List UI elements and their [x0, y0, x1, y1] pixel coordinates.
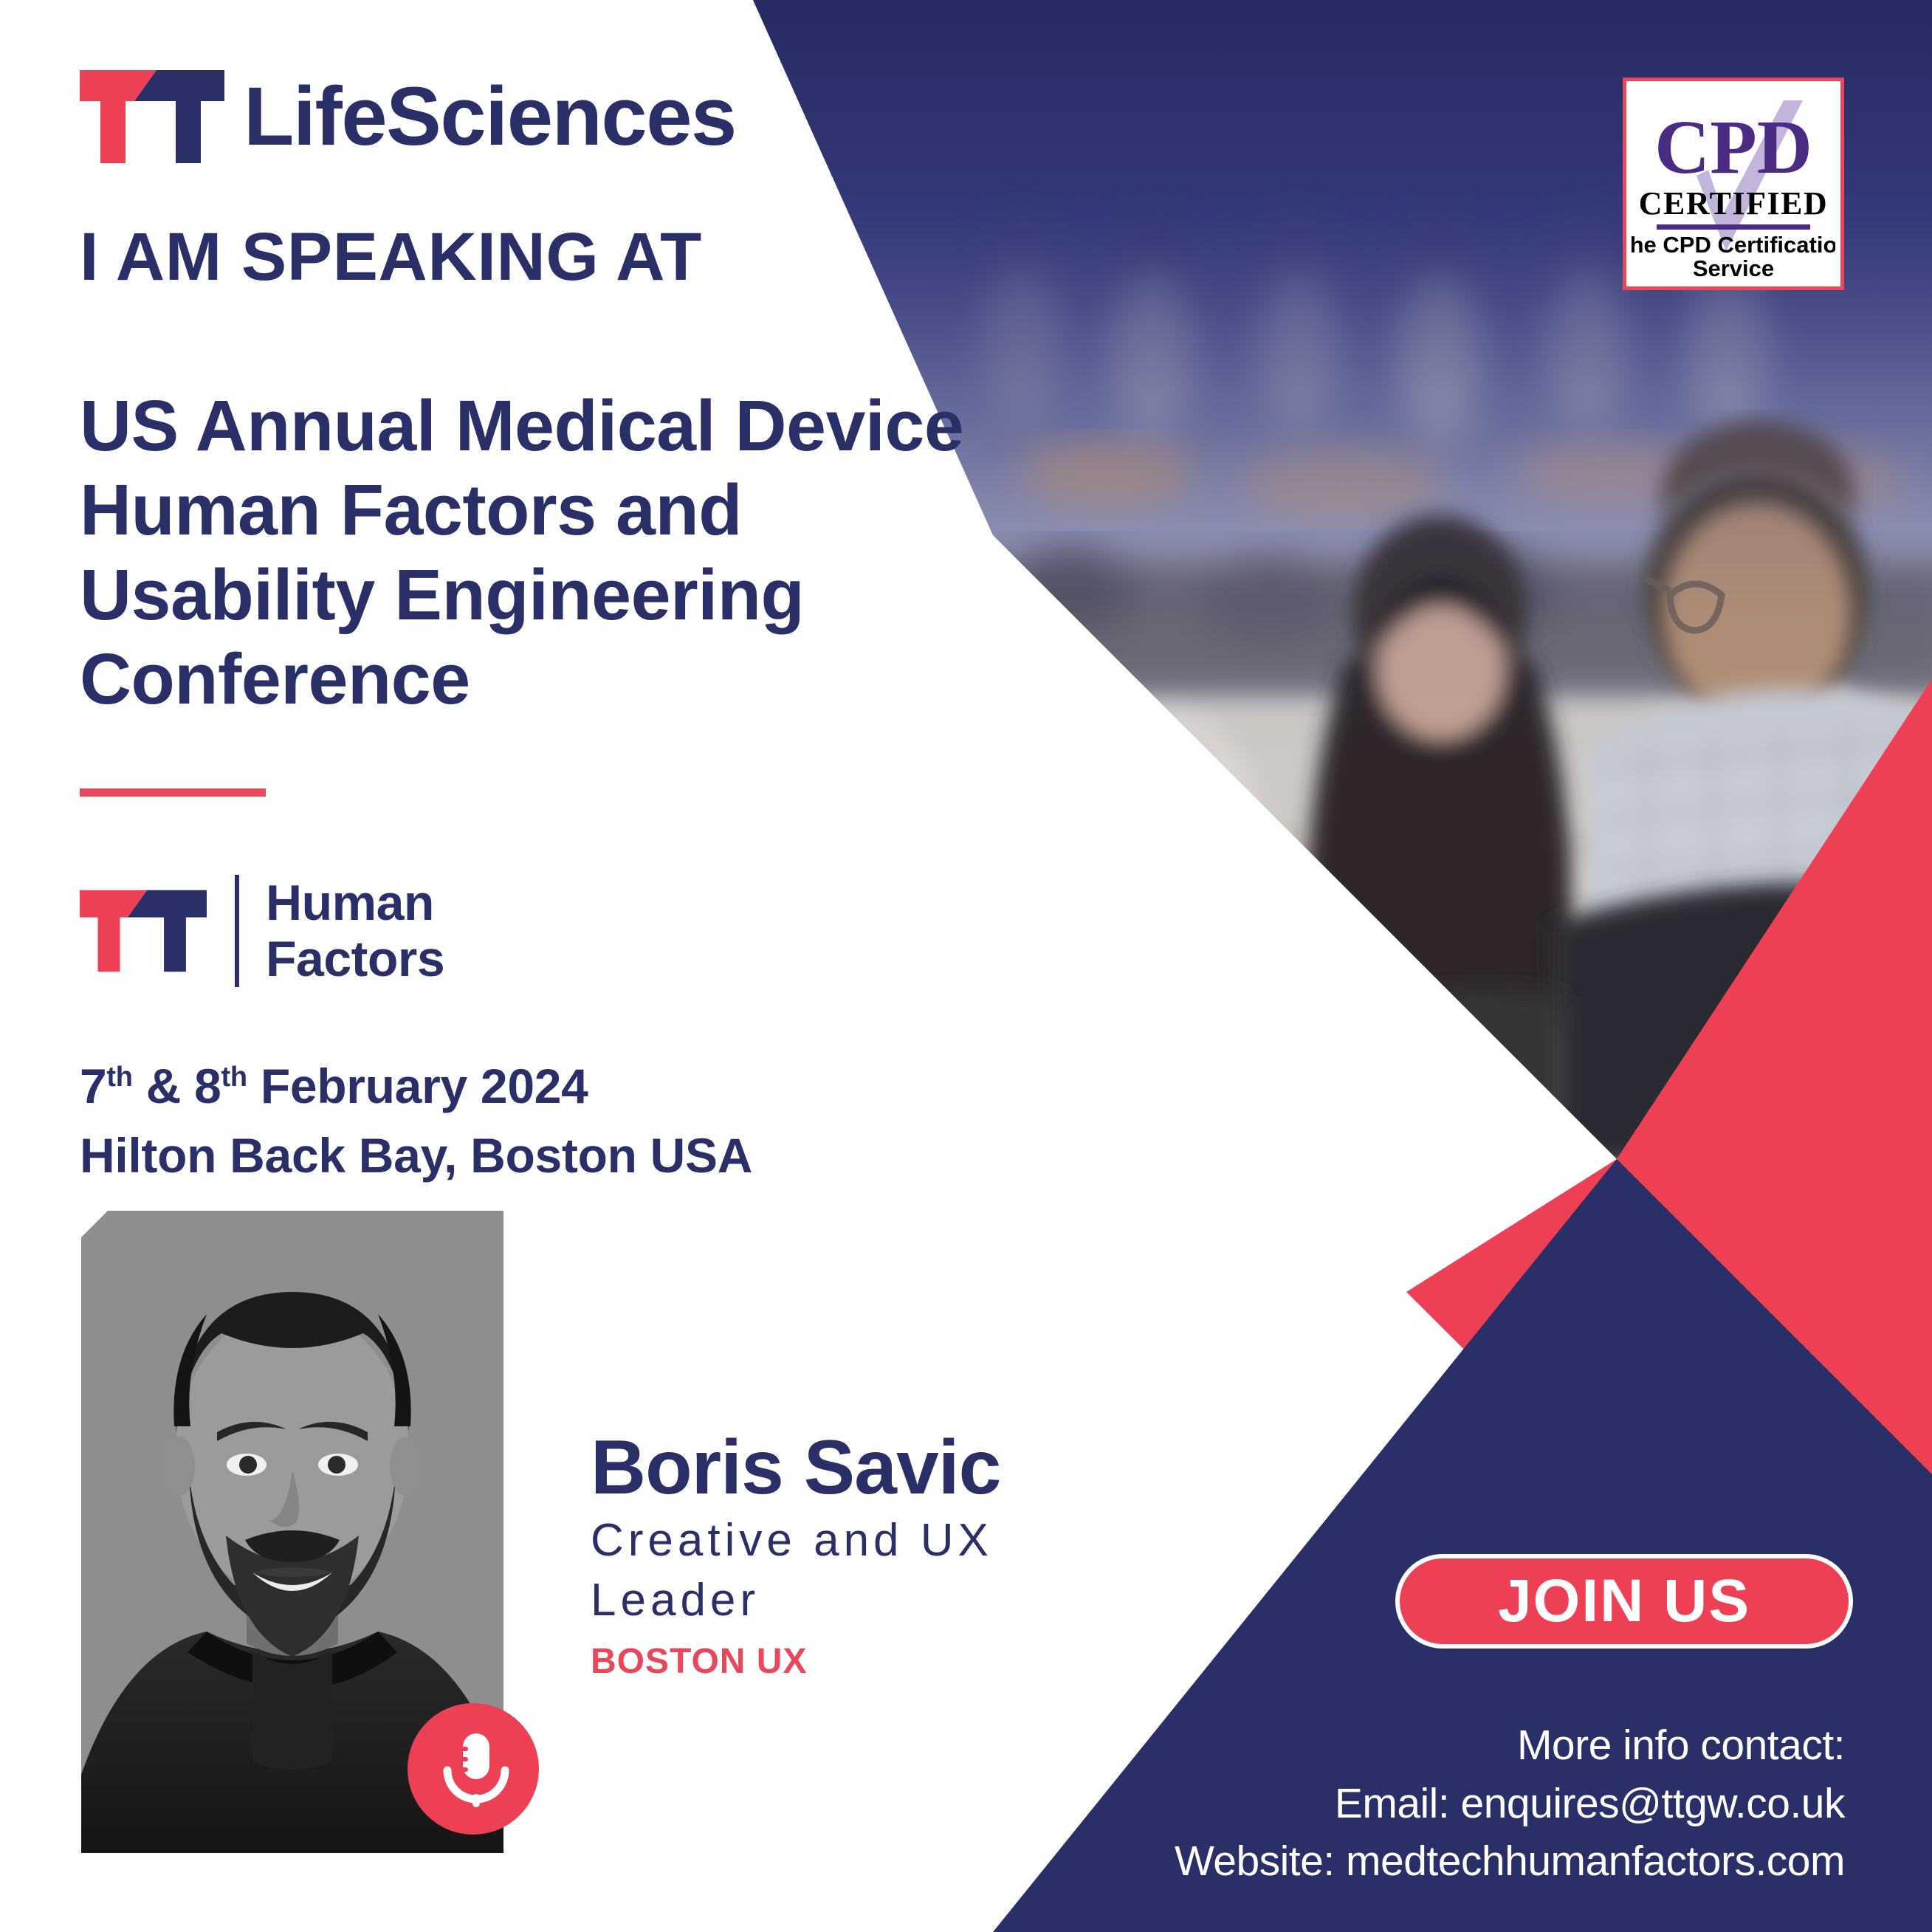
- date-ordinal-first: th: [106, 1062, 132, 1093]
- cpd-service-line-2: Service: [1693, 255, 1774, 281]
- red-divider-rule: [80, 788, 266, 797]
- tt-lifesciences-logo: LifeSciences: [80, 70, 736, 163]
- tt-monogram-icon: [80, 890, 207, 972]
- date-ordinal-second: th: [221, 1062, 247, 1093]
- speaker-info: Boris Savic Creative and UX Leader BOSTO…: [591, 1429, 1019, 1685]
- cpd-divider-rule: [1657, 224, 1810, 230]
- logo-divider-bar: [235, 875, 239, 987]
- speaker-name: Boris Savic: [591, 1429, 1019, 1507]
- conference-title-line-1: US Annual Medical Device: [80, 384, 1010, 468]
- conference-title-line-3: Usability Engineering: [80, 553, 1010, 637]
- conference-title: US Annual Medical Device Human Factors a…: [80, 384, 1010, 722]
- conference-title-line-4: Conference: [80, 637, 1010, 721]
- tt-monogram-icon: [80, 70, 224, 163]
- cpd-certified-text: CERTIFIED: [1639, 185, 1828, 221]
- speaking-kicker: I AM SPEAKING AT: [80, 221, 702, 293]
- cpd-badge-artwork: CPD CERTIFIED The CPD Certification Serv…: [1632, 87, 1835, 285]
- human-factors-wordmark: Human Factors: [266, 875, 444, 987]
- lifesciences-wordmark: LifeSciences: [244, 75, 736, 158]
- event-details: 7th & 8th February 2024 Hilton Back Bay,…: [80, 1052, 752, 1190]
- cpd-service-line-1: The CPD Certification: [1632, 232, 1835, 258]
- speaker-role: Creative and UX Leader: [591, 1511, 1019, 1630]
- cpd-certified-badge: CPD CERTIFIED The CPD Certification Serv…: [1623, 78, 1844, 290]
- microphone-badge: [408, 1703, 539, 1835]
- human-factors-line-2: Factors: [266, 931, 444, 987]
- date-month-year: February 2024: [247, 1059, 588, 1113]
- human-factors-line-1: Human: [266, 875, 444, 931]
- event-venue: Hilton Back Bay, Boston USA: [80, 1121, 752, 1191]
- contact-website[interactable]: Website: medtechhumanfactors.com: [1175, 1832, 1845, 1891]
- contact-info: More info contact: Email: enquires@ttgw.…: [1175, 1716, 1845, 1891]
- conference-title-line-2: Human Factors and: [80, 468, 1010, 552]
- date-day-first: 7: [80, 1059, 106, 1113]
- date-separator: & 8: [133, 1059, 221, 1113]
- tt-human-factors-logo: Human Factors: [80, 875, 444, 987]
- event-date: 7th & 8th February 2024: [80, 1052, 752, 1121]
- left-content-column: LifeSciences I AM SPEAKING AT US Annual …: [0, 0, 1019, 1932]
- cpd-acronym-text: CPD: [1654, 105, 1812, 190]
- contact-email[interactable]: Email: enquires@ttgw.co.uk: [1175, 1775, 1845, 1833]
- join-us-label: JOIN US: [1498, 1571, 1750, 1632]
- speaker-organization: BOSTON UX: [591, 1639, 1019, 1685]
- microphone-icon: [437, 1729, 509, 1809]
- join-us-button[interactable]: JOIN US: [1395, 1554, 1853, 1649]
- contact-heading: More info contact:: [1175, 1716, 1845, 1775]
